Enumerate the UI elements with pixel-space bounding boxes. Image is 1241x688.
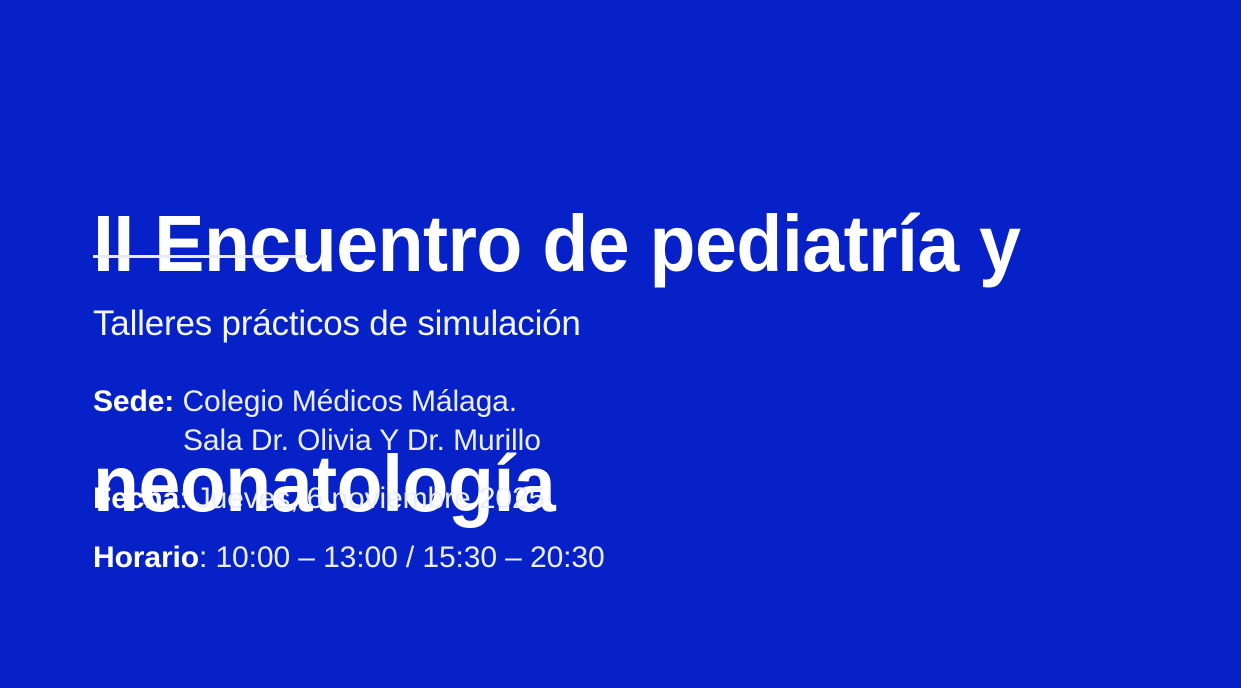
detail-label-horario: Horario xyxy=(93,541,199,574)
poster-canvas: II Encuentro de pediatría y neonatología… xyxy=(0,0,1241,647)
detail-row-horario: Horario: 10:00 – 13:00 / 15:30 – 20:30 xyxy=(93,538,993,577)
page-title: II Encuentro de pediatría y neonatología xyxy=(93,44,1024,684)
detail-value-sede-line2: Sala Dr. Olivia Y Dr. Murillo xyxy=(93,421,993,460)
divider-rule xyxy=(93,255,307,258)
detail-value-horario: : 10:00 – 13:00 / 15:30 – 20:30 xyxy=(199,541,605,574)
event-details: Sede: Colegio Médicos Málaga. Sala Dr. O… xyxy=(93,382,993,577)
page-subtitle: Talleres prácticos de simulación xyxy=(93,303,581,345)
detail-label-fecha: Fecha xyxy=(93,482,179,515)
detail-row-sede: Sede: Colegio Médicos Málaga. Sala Dr. O… xyxy=(93,382,993,460)
detail-row-fecha: Fecha: Jueves, 6 noviembre 2025 xyxy=(93,479,993,518)
title-line-1: II Encuentro de pediatría y xyxy=(93,204,1024,284)
detail-value-fecha: : Jueves, 6 noviembre 2025 xyxy=(179,482,545,515)
detail-label-sede: Sede: xyxy=(93,385,174,418)
detail-value-sede: Colegio Médicos Málaga. xyxy=(182,385,517,418)
